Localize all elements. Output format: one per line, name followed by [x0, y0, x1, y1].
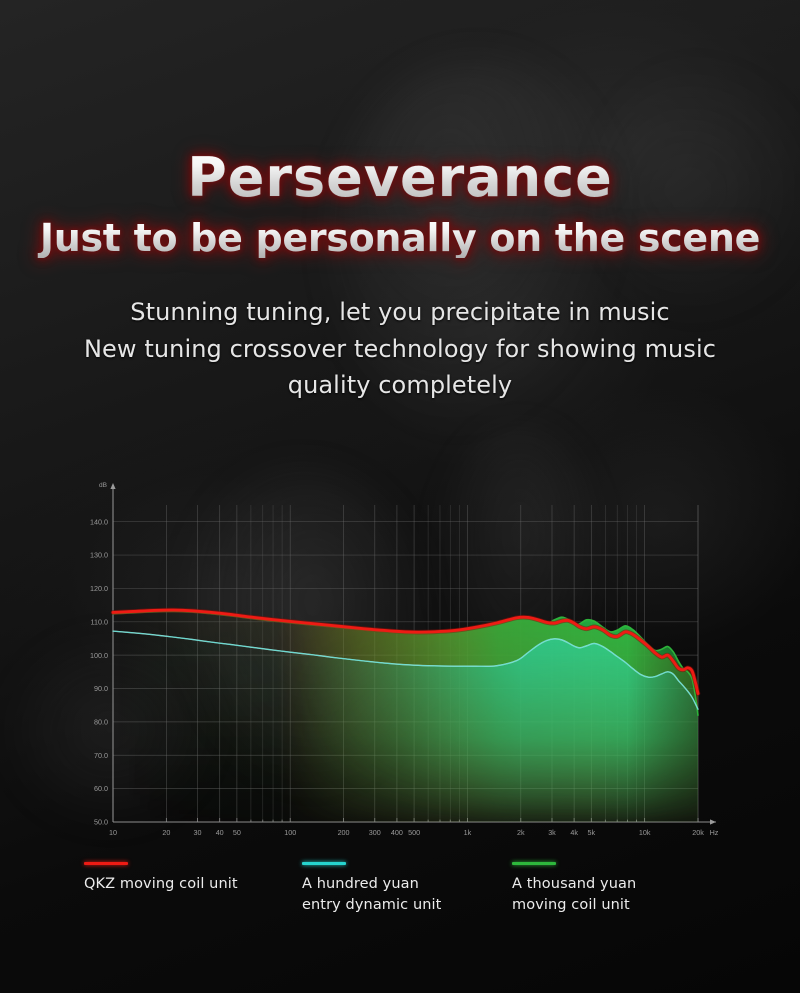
x-tick-label: 50	[233, 828, 241, 837]
frequency-response-chart: dB50.060.070.080.090.0100.0110.0120.0130…	[80, 478, 720, 848]
y-tick-label: 130.0	[90, 551, 108, 560]
x-tick-label: 300	[369, 828, 381, 837]
x-tick-label: 500	[408, 828, 420, 837]
x-tick-label: 30	[194, 828, 202, 837]
page-subtitle: Just to be personally on the scene	[0, 218, 800, 258]
x-tick-label: 20	[162, 828, 170, 837]
x-tick-label: 10k	[639, 828, 651, 837]
x-axis-unit-label: Hz	[710, 828, 719, 837]
legend-swatch-0	[84, 862, 128, 865]
legend-swatch-1	[302, 862, 346, 865]
x-tick-label: 400	[391, 828, 403, 837]
tagline-block: Stunning tuning, let you precipitate in …	[0, 294, 800, 403]
area-fill-hundred	[113, 505, 698, 822]
legend-label-0: QKZ moving coil unit	[84, 874, 238, 895]
x-tick-label: 4k	[570, 828, 578, 837]
tagline-line-2: New tuning crossover technology for show…	[0, 331, 800, 367]
y-tick-label: 140.0	[90, 517, 108, 526]
promo-page: Perseverance Just to be personally on th…	[0, 0, 800, 993]
y-tick-label: 60.0	[94, 784, 108, 793]
legend-label-1: A hundred yuan entry dynamic unit	[302, 874, 441, 915]
y-tick-label: 100.0	[90, 651, 108, 660]
x-tick-label: 2k	[517, 828, 525, 837]
legend-item-2[interactable]: A thousand yuan moving coil unit	[512, 862, 636, 915]
hero-headings: Perseverance Just to be personally on th…	[0, 0, 800, 404]
legend-item-1[interactable]: A hundred yuan entry dynamic unit	[302, 862, 441, 915]
y-axis-unit-label: dB	[99, 482, 107, 489]
y-axis-arrow	[110, 483, 115, 489]
x-tick-label: 3k	[548, 828, 556, 837]
legend-item-0[interactable]: QKZ moving coil unit	[84, 862, 238, 895]
chart-svg: dB50.060.070.080.090.0100.0110.0120.0130…	[80, 478, 720, 848]
chart-legend: QKZ moving coil unitA hundred yuan entry…	[78, 862, 758, 942]
chart-series-fills	[113, 505, 698, 822]
y-tick-label: 120.0	[90, 584, 108, 593]
y-tick-label: 90.0	[94, 684, 108, 693]
y-tick-label: 70.0	[94, 751, 108, 760]
x-tick-label: 40	[216, 828, 224, 837]
tagline-line-3: quality completely	[0, 367, 800, 403]
x-tick-label: 10	[109, 828, 117, 837]
legend-swatch-2	[512, 862, 556, 865]
x-tick-label: 20k	[692, 828, 704, 837]
page-title: Perseverance	[0, 150, 800, 206]
legend-label-2: A thousand yuan moving coil unit	[512, 874, 636, 915]
x-tick-label: 1k	[464, 828, 472, 837]
x-tick-label: 200	[338, 828, 350, 837]
y-tick-label: 50.0	[94, 818, 108, 827]
y-tick-label: 110.0	[91, 617, 108, 626]
tagline-line-1: Stunning tuning, let you precipitate in …	[0, 294, 800, 330]
y-tick-label: 80.0	[94, 717, 108, 726]
x-axis-arrow	[710, 819, 716, 824]
x-tick-label: 5k	[588, 828, 596, 837]
x-tick-label: 100	[284, 828, 296, 837]
